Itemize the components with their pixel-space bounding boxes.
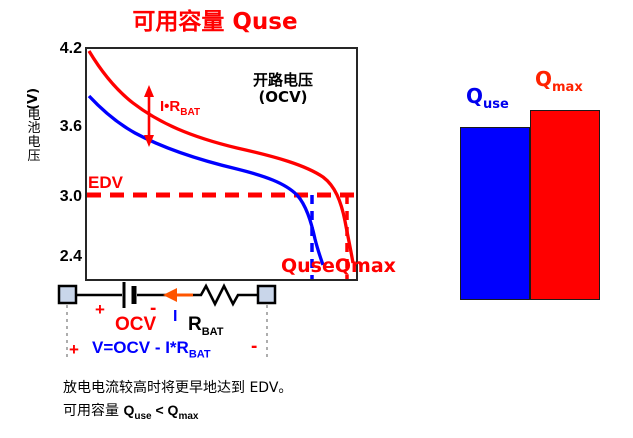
equation-minus-sign: - xyxy=(251,336,257,358)
notes-block: 放电电流较高时将更早地达到 EDV。 可用容量 Quse < Qmax xyxy=(63,378,393,424)
y-axis-char-1: 电 xyxy=(24,109,44,123)
y-axis-char-4: 压 xyxy=(24,150,44,164)
note-line-2-prefix: 可用容量 xyxy=(63,403,123,419)
equation-sub: BAT xyxy=(189,348,211,360)
bar-label-qmax-sub: max xyxy=(552,80,583,95)
quse-qmax-axis-label: QuseQmax xyxy=(281,255,396,277)
note-qmax-main: Q xyxy=(168,402,179,418)
ocv-annotation-en: (OCV) xyxy=(258,88,307,106)
ocv-annotation: 开路电压 (OCV) xyxy=(228,72,338,107)
circuit-ocv-label: OCV xyxy=(115,314,156,336)
note-quse-main: Q xyxy=(123,402,134,418)
bar-label-qmax-main: Q xyxy=(535,67,552,91)
y-axis-char-2: 池 xyxy=(24,122,44,136)
y-axis-label: (V) 电 池 电 压 xyxy=(24,92,44,163)
y-axis-unit: (V) xyxy=(27,90,41,110)
note-less-than: < xyxy=(152,402,168,418)
y-tick-3-0: 3.0 xyxy=(60,189,82,205)
circuit-plus-sign: + xyxy=(95,300,105,320)
bar-qmax xyxy=(530,110,600,300)
bar-label-quse-sub: use xyxy=(483,97,509,112)
note-line-1: 放电电流较高时将更早地达到 EDV。 xyxy=(63,378,393,400)
irbat-annotation-main: I•R xyxy=(160,98,180,115)
ocv-annotation-cn: 开路电压 xyxy=(253,71,313,89)
bar-label-quse-main: Q xyxy=(466,84,483,108)
bar-quse xyxy=(460,127,530,300)
capacity-bar-chart: Quse Qmax xyxy=(440,50,630,300)
circuit-rbat-label: RBAT xyxy=(188,314,224,338)
circuit-rbat-sub: BAT xyxy=(202,326,224,338)
equation-main: V=OCV - I*R xyxy=(92,338,189,357)
resistor-symbol xyxy=(195,286,241,304)
terminal-voltage-equation: V=OCV - I*RBAT xyxy=(92,338,211,360)
loaded-voltage-curve xyxy=(89,96,323,265)
note-line-2: 可用容量 Quse < Qmax xyxy=(63,400,393,424)
irbat-annotation: I•RBAT xyxy=(160,98,200,118)
circuit-current-label: I xyxy=(173,308,177,326)
terminal-left xyxy=(59,286,76,303)
irbat-annotation-sub: BAT xyxy=(180,107,200,118)
current-arrow xyxy=(163,288,193,302)
edv-label: EDV xyxy=(88,173,123,193)
battery-model-circuit: + - OCV I RBAT + V=OCV - I*RBAT - xyxy=(55,278,305,373)
bar-label-qmax: Qmax xyxy=(535,67,583,95)
slide-canvas: 可用容量 Quse (V) 电 池 电 压 4.2 3.6 3.0 2.4 xyxy=(0,0,633,438)
bar-label-quse: Quse xyxy=(466,84,509,112)
equation-plus-sign: + xyxy=(69,340,79,360)
y-tick-4-2: 4.2 xyxy=(60,41,82,57)
battery-symbol xyxy=(124,282,134,308)
terminal-right xyxy=(258,286,275,303)
circuit-rbat-main: R xyxy=(188,314,202,335)
note-quse-sub: use xyxy=(134,410,151,421)
note-qmax-sub: max xyxy=(178,410,198,421)
y-tick-2-4: 2.4 xyxy=(60,249,82,265)
y-axis-char-3: 电 xyxy=(24,136,44,150)
y-tick-3-6: 3.6 xyxy=(60,119,82,135)
discharge-curve-chart: (V) 电 池 电 压 4.2 3.6 3.0 2.4 xyxy=(0,30,400,280)
